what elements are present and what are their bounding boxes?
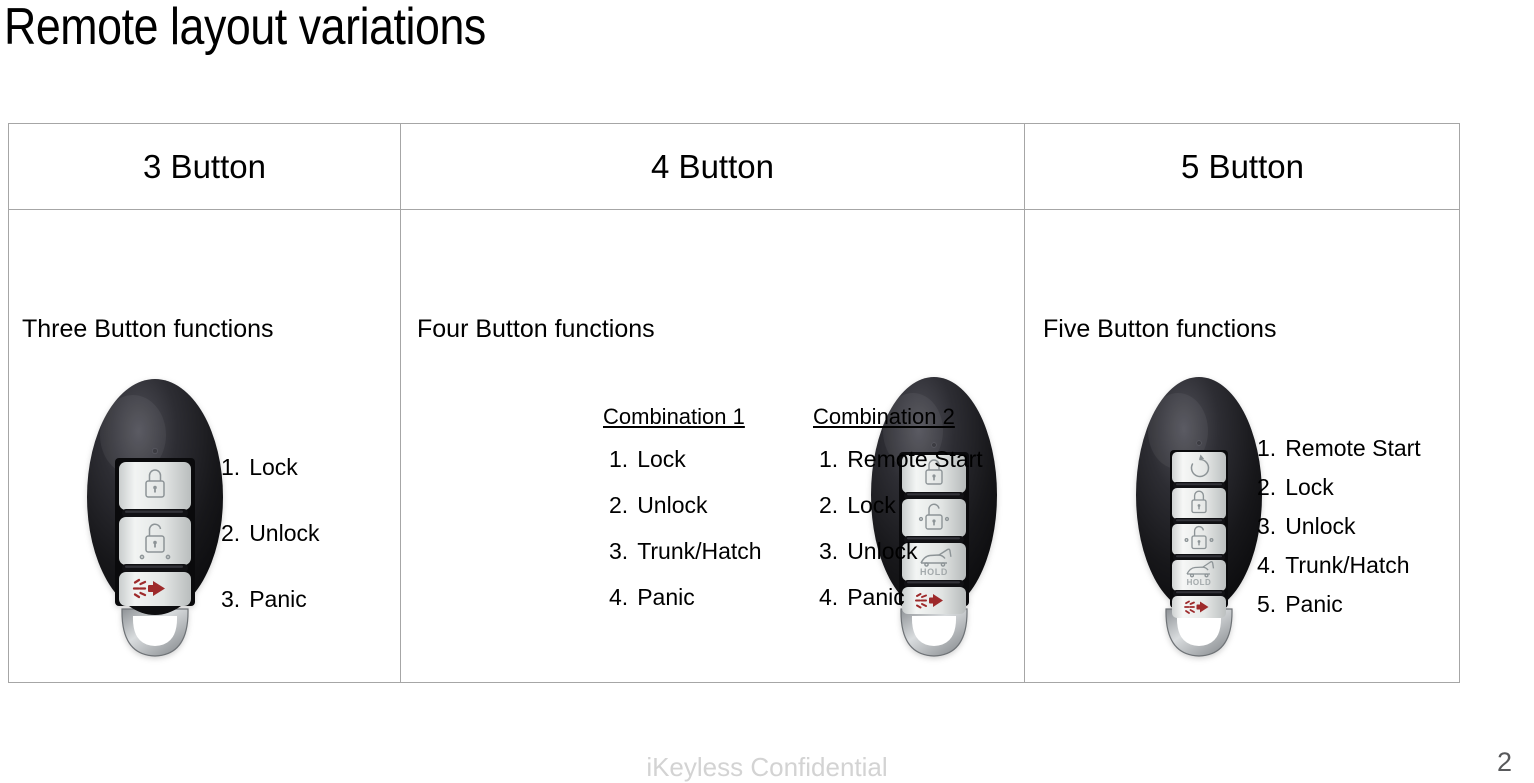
list-item-label: Remote Start <box>1285 435 1421 462</box>
list-item-number: 2. <box>819 492 838 519</box>
table-header-5-button: 5 Button <box>1024 124 1460 210</box>
button-divider-bar <box>122 564 188 572</box>
list-item: 1. Lock <box>609 446 762 473</box>
list-item: 3. Panic <box>221 586 320 613</box>
three-button-functions-heading: Three Button functions <box>22 315 274 344</box>
list-item-label: Remote Start <box>847 446 983 473</box>
table-cell-5-button: Five Button functions <box>1024 210 1460 683</box>
button-divider-highlight <box>1176 519 1222 521</box>
button-divider-bar <box>1173 554 1225 561</box>
button-divider-highlight <box>1176 591 1222 593</box>
table-cell-4-button: Four Button functions <box>400 210 1024 683</box>
button-divider-highlight <box>125 566 183 568</box>
confidential-footer: iKeyless Confidential <box>0 752 1534 783</box>
list-item: 1. Remote Start <box>819 446 983 473</box>
list-item-label: Lock <box>637 446 686 473</box>
list-item-number: 1. <box>609 446 628 473</box>
list-item: 2. Unlock <box>609 492 762 519</box>
list-item: 4. Panic <box>819 584 983 611</box>
list-item-label: Panic <box>249 586 307 613</box>
list-item-number: 3. <box>819 538 838 565</box>
five-button-function-list: 1. Remote Start 2. Lock 3. Unlock 4. Tru… <box>1257 435 1421 630</box>
list-item-label: Trunk/Hatch <box>637 538 761 565</box>
combination-1-heading: Combination 1 <box>603 404 745 430</box>
list-item-number: 3. <box>221 586 240 613</box>
list-item: 3. Unlock <box>819 538 983 565</box>
fob-button-remote-start[interactable] <box>1172 452 1226 483</box>
table-header-4-button: 4 Button <box>400 124 1024 210</box>
list-item-label: Unlock <box>249 520 319 547</box>
list-item-label: Trunk/Hatch <box>1285 552 1409 579</box>
list-item-label: Panic <box>637 584 695 611</box>
page-title: Remote layout variations <box>4 0 486 58</box>
list-item-number: 1. <box>1257 435 1276 462</box>
list-item: 2. Lock <box>819 492 983 519</box>
combination-2-heading: Combination 2 <box>813 404 955 430</box>
list-item-number: 2. <box>221 520 240 547</box>
four-button-functions-heading: Four Button functions <box>417 315 655 344</box>
list-item-label: Lock <box>1285 474 1334 501</box>
combination-2-list: 1. Remote Start 2. Lock 3. Unlock 4. Pan… <box>819 446 983 630</box>
list-item: 2. Lock <box>1257 474 1421 501</box>
list-item-number: 1. <box>221 454 240 481</box>
led-indicator-dot <box>152 448 157 453</box>
three-button-function-list: 1. Lock 2. Unlock 3. Panic <box>221 454 320 652</box>
list-item-label: Unlock <box>1285 513 1355 540</box>
page-number: 2 <box>1497 747 1512 778</box>
fob-button-lock[interactable] <box>1172 488 1226 519</box>
table-header-3-button: 3 Button <box>9 124 400 210</box>
button-divider-bar <box>122 509 188 517</box>
three-button-key-fob <box>75 373 235 663</box>
list-item-number: 4. <box>819 584 838 611</box>
list-item-number: 5. <box>1257 591 1276 618</box>
list-item: 3. Unlock <box>1257 513 1421 540</box>
list-item-label: Lock <box>847 492 896 519</box>
list-item: 4. Trunk/Hatch <box>1257 552 1421 579</box>
list-item-number: 1. <box>819 446 838 473</box>
list-item-number: 4. <box>1257 552 1276 579</box>
button-divider-highlight <box>1176 483 1222 485</box>
hold-label: HOLD <box>1187 578 1212 587</box>
button-divider-bar <box>1173 482 1225 489</box>
list-item-number: 3. <box>609 538 628 565</box>
list-item: 3. Trunk/Hatch <box>609 538 762 565</box>
list-item: 1. Lock <box>221 454 320 481</box>
list-item-label: Unlock <box>637 492 707 519</box>
list-item-number: 3. <box>1257 513 1276 540</box>
list-item: 5. Panic <box>1257 591 1421 618</box>
table-cell-3-button: Three Button functions <box>9 210 400 683</box>
button-divider-bar <box>1173 518 1225 525</box>
table-header-row: 3 Button 4 Button 5 Button <box>9 124 1459 210</box>
button-divider-highlight <box>1176 555 1222 557</box>
list-item-label: Unlock <box>847 538 917 565</box>
list-item-number: 2. <box>1257 474 1276 501</box>
button-divider-bar <box>1173 590 1225 597</box>
list-item: 4. Panic <box>609 584 762 611</box>
list-item-number: 4. <box>609 584 628 611</box>
button-divider-highlight <box>125 511 183 513</box>
led-indicator-dot <box>1197 441 1202 446</box>
five-button-key-fob: HOLD <box>1124 371 1274 663</box>
list-item-label: Panic <box>1285 591 1343 618</box>
fob-button-unlock[interactable] <box>1172 524 1226 555</box>
combination-1-list: 1. Lock 2. Unlock 3. Trunk/Hatch 4. Pani… <box>609 446 762 630</box>
list-item-label: Panic <box>847 584 905 611</box>
list-item-number: 2. <box>609 492 628 519</box>
list-item: 2. Unlock <box>221 520 320 547</box>
remote-layout-table: 3 Button 4 Button 5 Button Three Button … <box>8 123 1460 683</box>
list-item-label: Lock <box>249 454 298 481</box>
five-button-functions-heading: Five Button functions <box>1043 315 1276 344</box>
list-item: 1. Remote Start <box>1257 435 1421 462</box>
